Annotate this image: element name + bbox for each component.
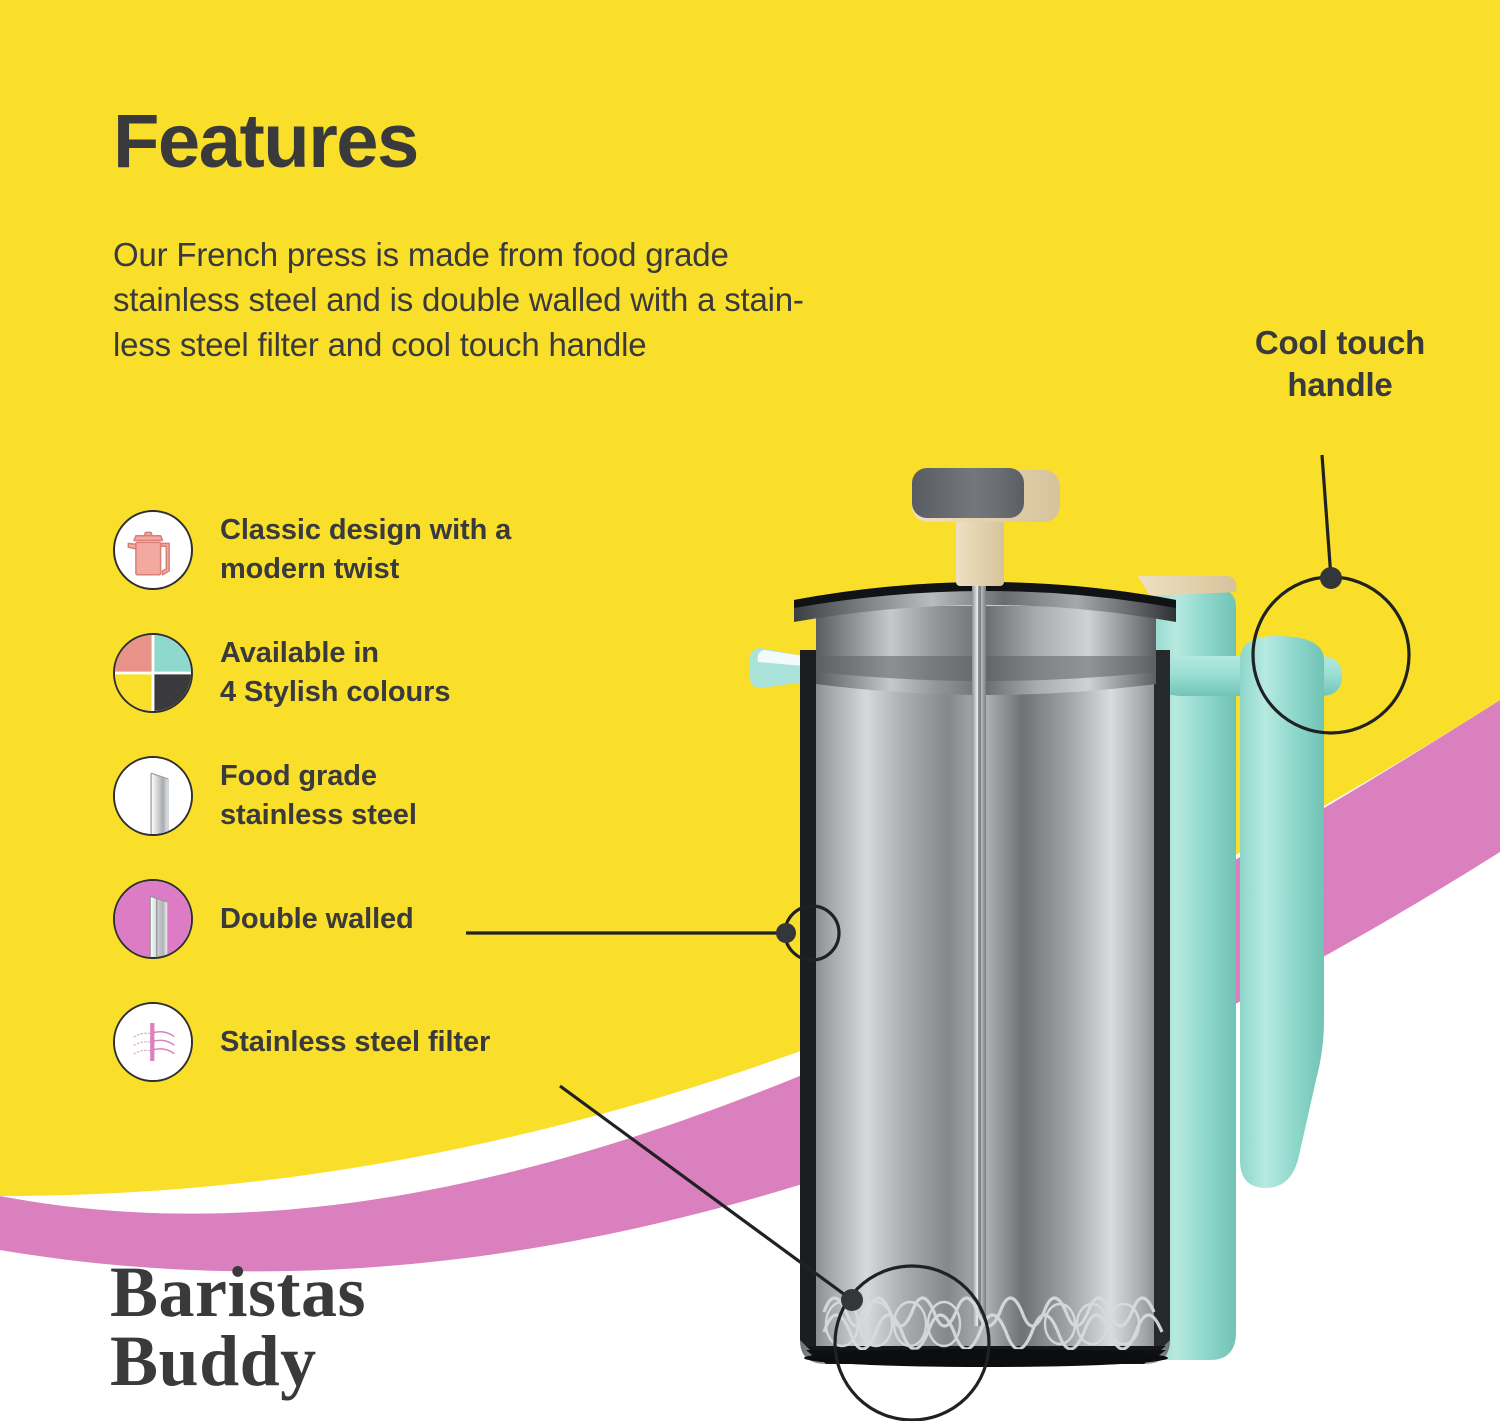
double-wall-icon <box>113 879 193 959</box>
feature-label: Double walled <box>220 900 414 939</box>
feature-item-filter: Stainless steel filter <box>113 999 733 1085</box>
feature-item-double-walled: Double walled <box>113 876 733 962</box>
feature-label: Classic design with a modern twist <box>220 511 511 588</box>
product-handle-grip <box>1240 636 1324 1188</box>
feature-label: Available in 4 Stylish colours <box>220 634 450 711</box>
colour-wheel-icon <box>113 633 193 713</box>
page-title: Features <box>113 104 418 180</box>
brand-logo-line-2: Buddy <box>110 1327 366 1396</box>
feature-label: Food grade stainless steel <box>220 757 417 834</box>
french-press-icon <box>113 510 193 590</box>
product-knob <box>912 468 1060 522</box>
brand-logo-line-1: Baristas <box>110 1252 366 1332</box>
feature-item-food-grade-steel: Food grade stainless steel <box>113 753 733 839</box>
steel-wall-icon <box>113 756 193 836</box>
feature-item-classic-design: Classic design with a modern twist <box>113 507 733 593</box>
description-line-3: less steel filter and cool touch handle <box>113 322 973 367</box>
description-line-2: stainless steel and is double walled wit… <box>113 277 973 322</box>
brand-logo: Baristas Buddy <box>110 1258 366 1396</box>
feature-label: Stainless steel filter <box>220 1023 490 1062</box>
callout-label-cool-touch-handle: Cool touch handle <box>1190 322 1490 406</box>
description-line-1: Our French press is made from food grade <box>113 232 973 277</box>
page-description: Our French press is made from food grade… <box>113 232 973 368</box>
feature-item-colours: Available in 4 Stylish colours <box>113 630 733 716</box>
filter-mesh-icon <box>113 1002 193 1082</box>
feature-list: Classic design with a modern twist Avail… <box>113 507 733 1085</box>
infographic-canvas: Features Our French press is made from f… <box>0 0 1500 1421</box>
product-image-french-press <box>720 460 1500 1421</box>
